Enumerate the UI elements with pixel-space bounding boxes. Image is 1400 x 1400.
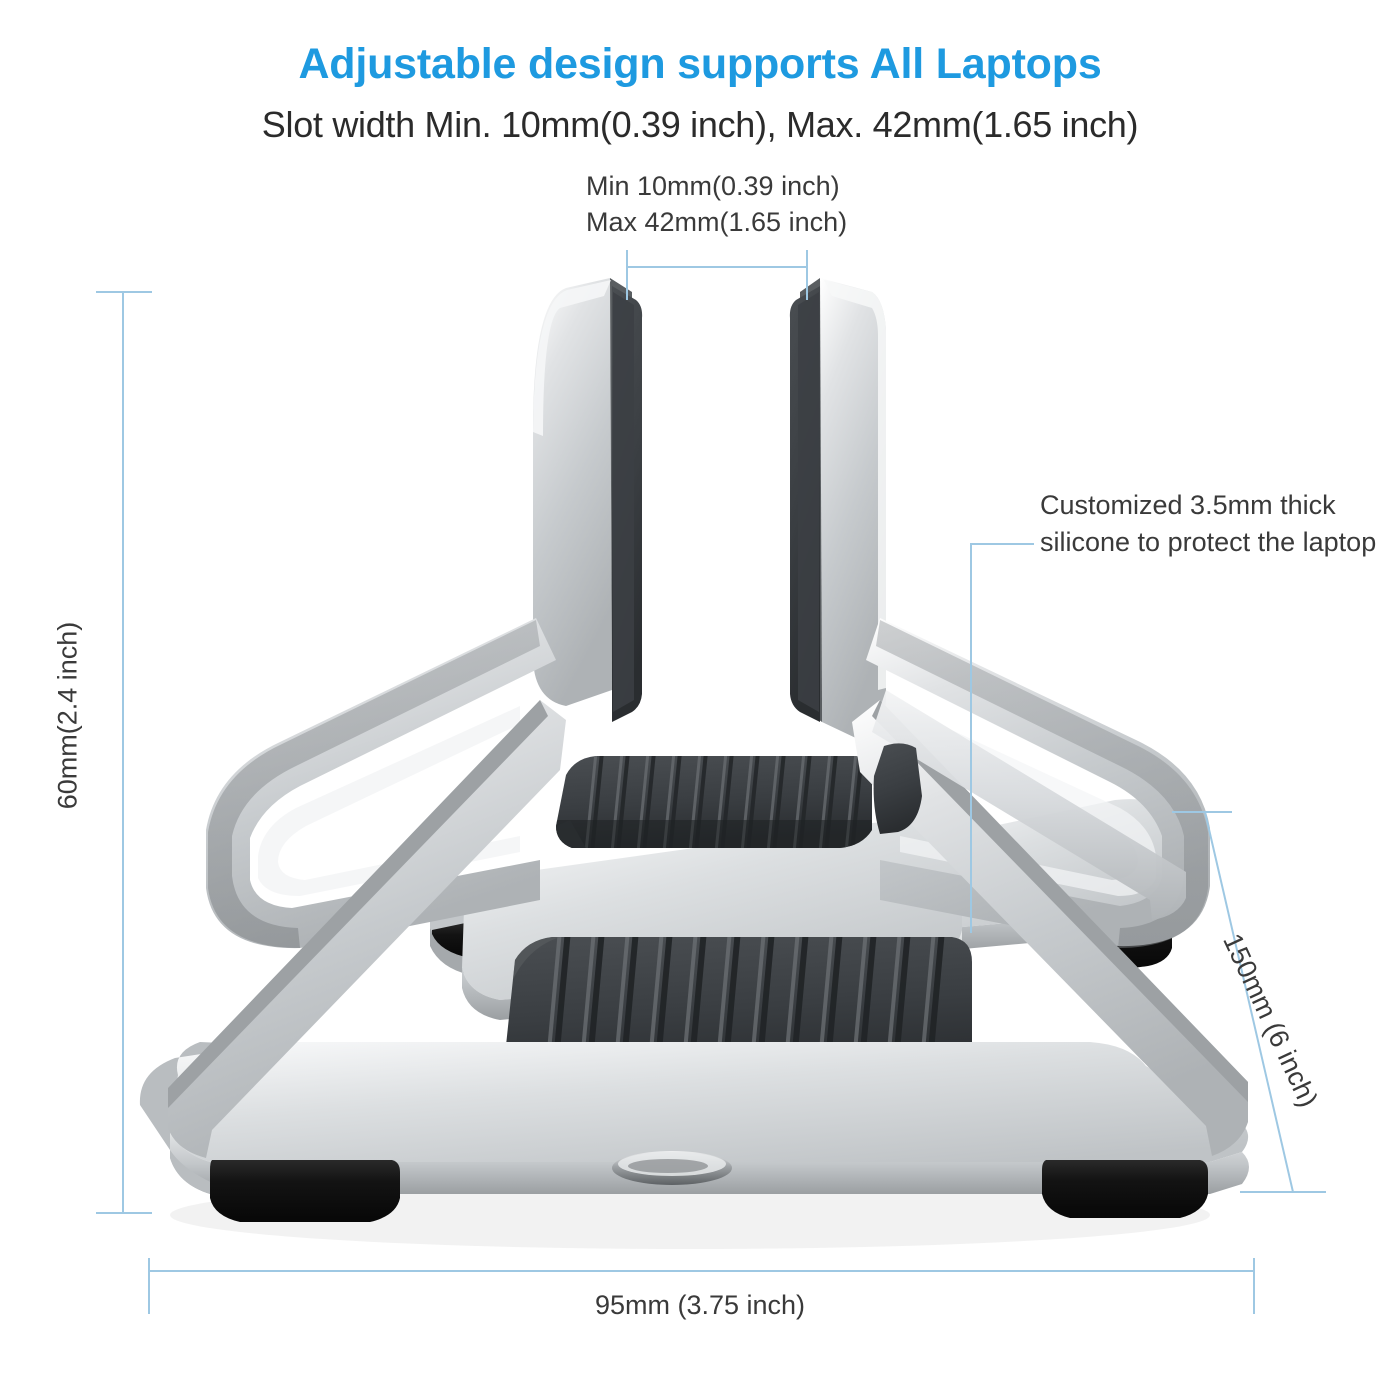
slot-max-label: Max 42mm(1.65 inch) — [586, 204, 986, 240]
adjustment-knob — [612, 1151, 732, 1185]
slot-width-callout: Min 10mm(0.39 inch) Max 42mm(1.65 inch) — [586, 168, 986, 240]
height-dim-tick-top — [96, 291, 152, 293]
height-dim-line — [122, 291, 124, 1213]
upper-silicone-pad — [540, 752, 890, 860]
silicone-leader-vertical — [970, 543, 972, 933]
slot-dim-line — [626, 266, 808, 268]
slot-min-label: Min 10mm(0.39 inch) — [586, 168, 986, 204]
width-dim-label: 95mm (3.75 inch) — [0, 1290, 1400, 1321]
front-left-foot — [210, 1160, 400, 1222]
infographic-canvas: Adjustable design supports All Laptops S… — [0, 0, 1400, 1400]
silicone-callout: Customized 3.5mm thick silicone to prote… — [1040, 487, 1380, 561]
slot-dim-tick-right — [806, 250, 808, 300]
right-upper-arm — [790, 278, 886, 740]
height-dim-label: 60mm(2.4 inch) — [53, 586, 84, 846]
slot-dim-tick-left — [626, 250, 628, 300]
height-dim-tick-bottom — [96, 1212, 152, 1214]
silicone-leader-horizontal — [972, 543, 1034, 545]
width-dim-line — [148, 1270, 1255, 1272]
front-right-foot — [1042, 1160, 1208, 1218]
